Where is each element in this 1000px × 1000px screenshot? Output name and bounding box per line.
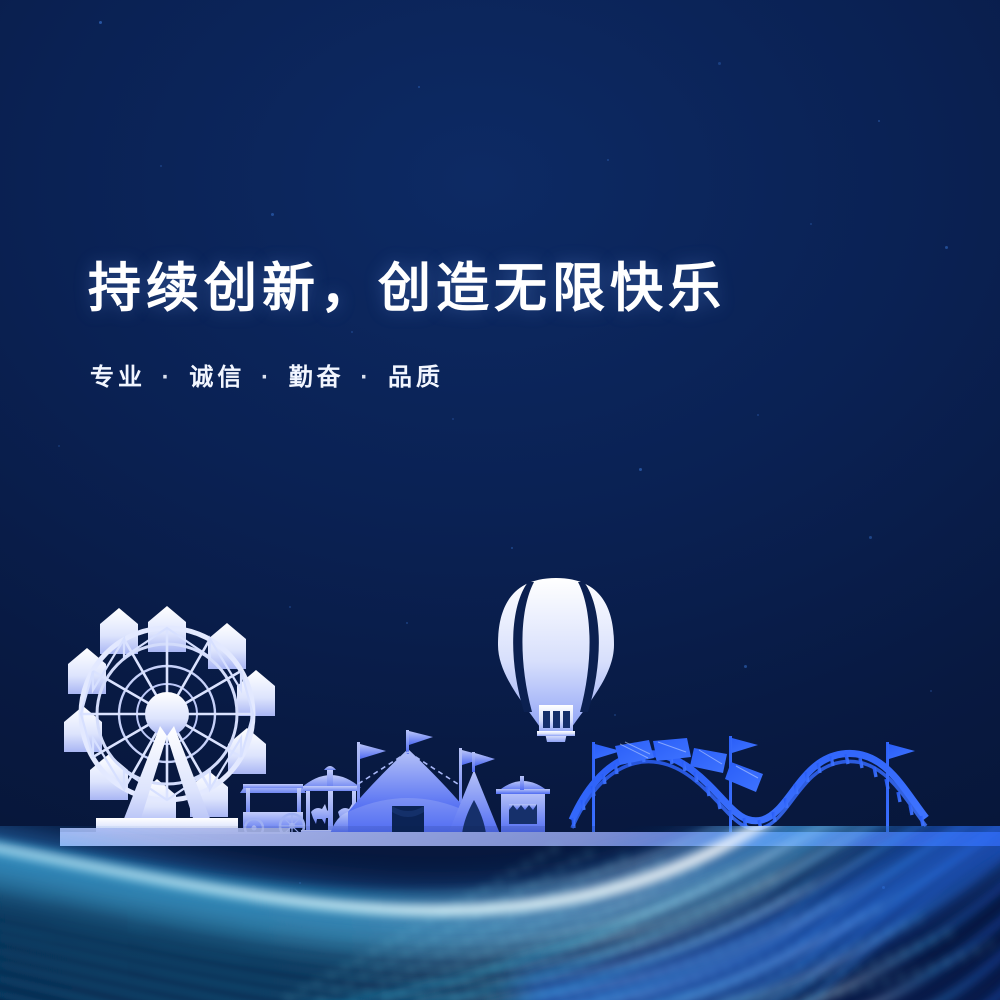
star [607, 159, 609, 161]
ferris-wheel-bracing [81, 628, 253, 800]
star [930, 690, 932, 692]
poster-canvas: 持续创新，创造无限快乐 专业 · 诚信 · 勤奋 · 品质 [0, 0, 1000, 1000]
star [289, 606, 291, 608]
star [639, 468, 642, 471]
food-cart [240, 784, 306, 838]
tagline-item-3: 勤奋 [289, 364, 345, 391]
star [299, 882, 301, 884]
roller-coaster [572, 736, 926, 834]
star [452, 418, 454, 420]
mesh-cross-lines [286, 846, 992, 1000]
star [406, 622, 408, 624]
star [945, 246, 948, 249]
star [511, 547, 513, 549]
star [869, 536, 872, 539]
star [99, 21, 102, 24]
small-tent [448, 752, 500, 834]
star [744, 665, 747, 668]
star [878, 120, 880, 122]
tagline-item-4: 品质 [388, 364, 444, 391]
star [58, 445, 60, 447]
roller-coaster-train [615, 738, 763, 792]
hero-copy: 持续创新，创造无限快乐 专业 · 诚信 · 勤奋 · 品质 [88, 258, 726, 392]
tagline-separator: · [157, 364, 179, 391]
starfield [0, 0, 1000, 1000]
star [882, 886, 885, 889]
ferris-wheel-spokes [81, 628, 253, 800]
star [718, 62, 721, 65]
tagline-separator: · [355, 364, 377, 391]
star [160, 165, 162, 167]
ferris-wheel [64, 606, 297, 834]
hot-air-balloon [498, 578, 614, 742]
star [271, 213, 274, 216]
star [418, 86, 420, 88]
amusement-park-scene [0, 0, 1000, 1000]
tagline: 专业 · 诚信 · 勤奋 · 品质 [90, 357, 726, 392]
ground-strip [60, 828, 1000, 846]
tagline-separator: · [256, 364, 278, 391]
tagline-item-1: 专业 [90, 364, 146, 391]
star [810, 223, 812, 225]
tagline-item-2: 诚信 [189, 364, 245, 391]
ferris-wheel-gondolas [64, 606, 297, 825]
ticket-booth [496, 776, 550, 834]
carousel [301, 766, 361, 834]
glowing-wave-mesh [0, 0, 1000, 1000]
circus-tent [330, 730, 488, 834]
page-title: 持续创新，创造无限快乐 [88, 258, 726, 319]
star [614, 714, 616, 716]
star [757, 414, 759, 416]
